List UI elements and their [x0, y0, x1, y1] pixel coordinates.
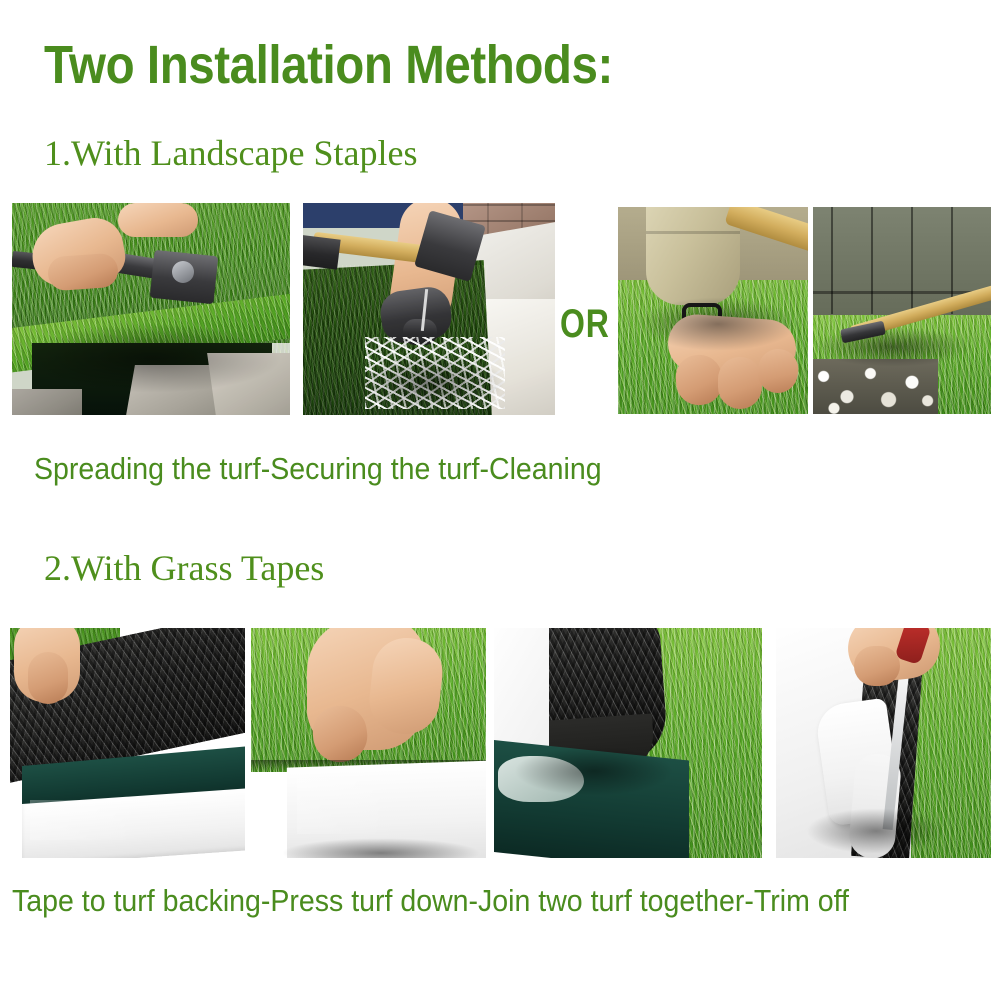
photo-press-turf-down [251, 628, 486, 858]
or-separator: OR [560, 303, 610, 345]
photo-hammering-nails [303, 203, 555, 415]
page-title: Two Installation Methods: [44, 36, 613, 94]
method-1-caption: Spreading the turf-Securing the turf-Cle… [34, 452, 602, 486]
photo-spreading-the-turf [12, 203, 290, 415]
photo-tape-to-turf-backing [10, 628, 245, 858]
photo-join-two-turf-together [494, 628, 762, 858]
photo-brushing-turf [813, 207, 991, 414]
photo-mallet-staple [618, 207, 808, 414]
method-2-heading: 2.With Grass Tapes [44, 548, 324, 588]
method-1-heading: 1.With Landscape Staples [44, 133, 417, 173]
installation-methods-infographic: Two Installation Methods: 1.With Landsca… [0, 0, 1000, 1000]
method-2-caption: Tape to turf backing-Press turf down-Joi… [12, 884, 849, 918]
photo-trim-off [776, 628, 991, 858]
